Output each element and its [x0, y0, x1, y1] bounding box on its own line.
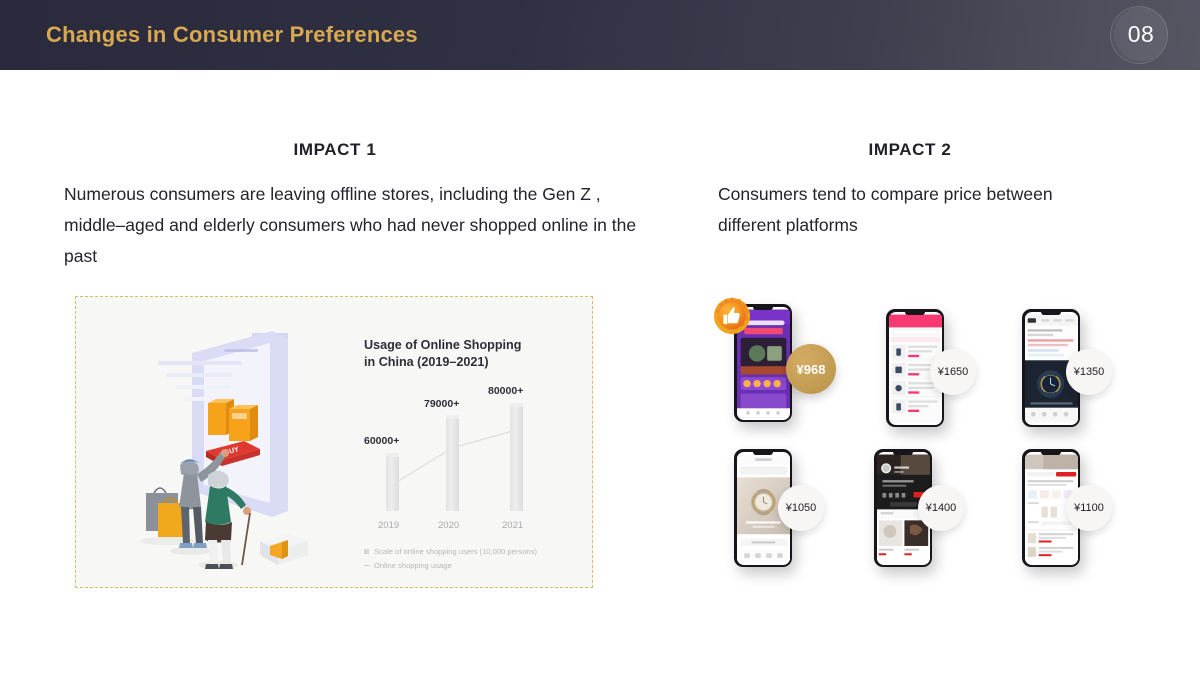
- chart: Usage of Online Shopping in China (2019–…: [364, 337, 586, 583]
- impact-1-column: IMPACT 1 Numerous consumers are leaving …: [0, 140, 680, 272]
- price-badge[interactable]: ¥1100: [1066, 485, 1112, 531]
- legend-item: Scale of online shopping users (10,000 p…: [364, 547, 586, 556]
- chart-category-label: 2019: [378, 520, 399, 531]
- phone-notch-icon: [905, 312, 925, 315]
- chart-category-label: 2020: [438, 520, 459, 531]
- phone-card[interactable]: ¥1650: [864, 301, 1004, 451]
- chart-title: Usage of Online Shopping in China (2019–…: [364, 337, 554, 371]
- chart-bar: [446, 415, 459, 511]
- chart-bar: [510, 403, 523, 511]
- page-title: Changes in Consumer Preferences: [46, 22, 418, 48]
- phone-notch-icon: [753, 307, 773, 310]
- thumbs-up-icon: [712, 296, 752, 336]
- slide-header: Changes in Consumer Preferences 08: [0, 0, 1200, 70]
- illustration-card: BUY: [75, 296, 593, 588]
- chart-bar-value: 80000+: [488, 385, 523, 397]
- price-badge[interactable]: ¥1650: [930, 349, 976, 395]
- chart-legend: Scale of online shopping users (10,000 p…: [364, 547, 586, 570]
- impact-1-label: IMPACT 1: [55, 140, 615, 160]
- phone-card[interactable]: ¥968: [712, 296, 852, 446]
- phone-card[interactable]: ¥1350: [1000, 301, 1140, 451]
- impact-2-label: IMPACT 2: [700, 140, 1120, 160]
- chart-bar-value: 79000+: [424, 398, 459, 410]
- impact-2-body: Consumers tend to compare price between …: [718, 179, 1118, 241]
- impact-2-column: IMPACT 2 Consumers tend to compare price…: [700, 140, 1170, 241]
- illustration-package: [260, 533, 308, 565]
- legend-label: Online shopping usage: [374, 561, 452, 570]
- phone-comparison-grid: ¥968: [712, 296, 1152, 606]
- legend-square-swatch-icon: [364, 549, 369, 554]
- phone-notch-icon: [753, 452, 773, 455]
- phone-notch-icon: [1041, 312, 1061, 315]
- phone-card[interactable]: ¥1400: [852, 441, 992, 591]
- chart-category-label: 2021: [502, 520, 523, 531]
- phone-card[interactable]: ¥1100: [1000, 441, 1140, 591]
- chart-title-line-2: in China (2019–2021): [364, 354, 554, 371]
- illustration-products: [208, 399, 258, 441]
- page-number-label: 08: [1114, 7, 1168, 61]
- phone-notch-icon: [1041, 452, 1061, 455]
- legend-label: Scale of online shopping users (10,000 p…: [374, 547, 537, 556]
- price-badge[interactable]: ¥968: [786, 344, 836, 394]
- page-number-badge: 08: [1110, 6, 1168, 64]
- chart-bar: [386, 453, 399, 511]
- price-badge[interactable]: ¥1400: [918, 485, 964, 531]
- price-badge[interactable]: ¥1050: [778, 485, 824, 531]
- chart-bar-value: 60000+: [364, 435, 399, 447]
- legend-line-swatch-icon: [364, 565, 370, 566]
- phone-card[interactable]: ¥1050: [712, 441, 852, 591]
- chart-plot: 60000+ 79000+ 80000+ 2019 2020 2021: [364, 393, 564, 533]
- price-badge[interactable]: ¥1350: [1066, 349, 1112, 395]
- impact-1-body: Numerous consumers are leaving offline s…: [64, 179, 664, 272]
- online-shopping-illustration: BUY: [84, 303, 374, 583]
- phone-notch-icon: [893, 452, 913, 455]
- legend-item: Online shopping usage: [364, 561, 586, 570]
- chart-title-line-1: Usage of Online Shopping: [364, 337, 554, 354]
